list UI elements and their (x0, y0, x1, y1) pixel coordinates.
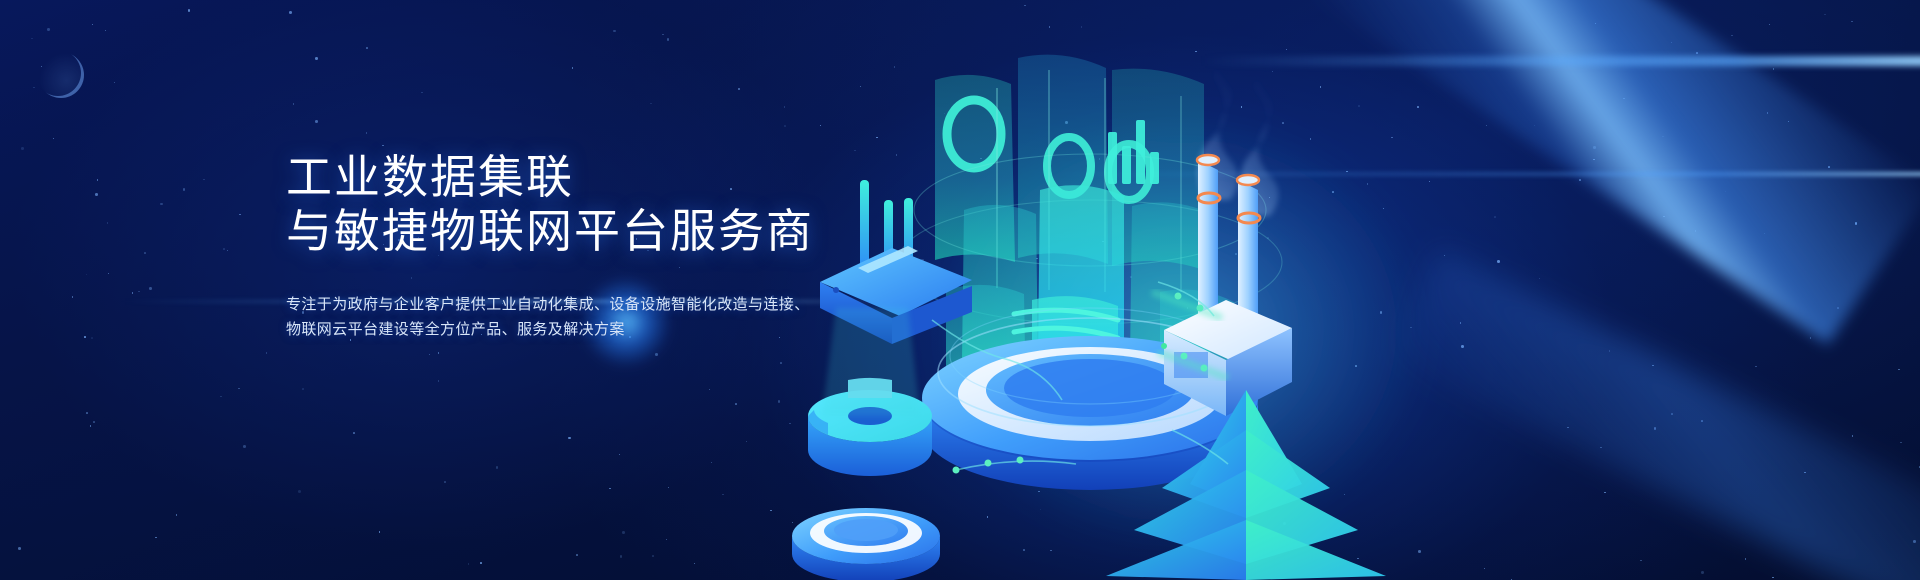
subtitle-line-2: 物联网云平台建设等全方位产品、服务及解决方案 (286, 317, 1006, 342)
headline-line-1: 工业数据集联 (286, 150, 1006, 204)
banner-subtitle: 专注于为政府与企业客户提供工业自动化集成、设备设施智能化改造与连接、 物联网云平… (286, 292, 1006, 342)
headline-line-2: 与敏捷物联网平台服务商 (286, 204, 1006, 258)
crescent-moon-icon (38, 52, 84, 98)
small-disc-platform (792, 508, 940, 580)
banner-copy: 工业数据集联 与敏捷物联网平台服务商 专注于为政府与企业客户提供工业自动化集成、… (286, 150, 1006, 342)
subtitle-line-1: 专注于为政府与企业客户提供工业自动化集成、设备设施智能化改造与连接、 (286, 292, 1006, 317)
hero-banner: 工业数据集联 与敏捷物联网平台服务商 专注于为政府与企业客户提供工业自动化集成、… (0, 0, 1920, 580)
